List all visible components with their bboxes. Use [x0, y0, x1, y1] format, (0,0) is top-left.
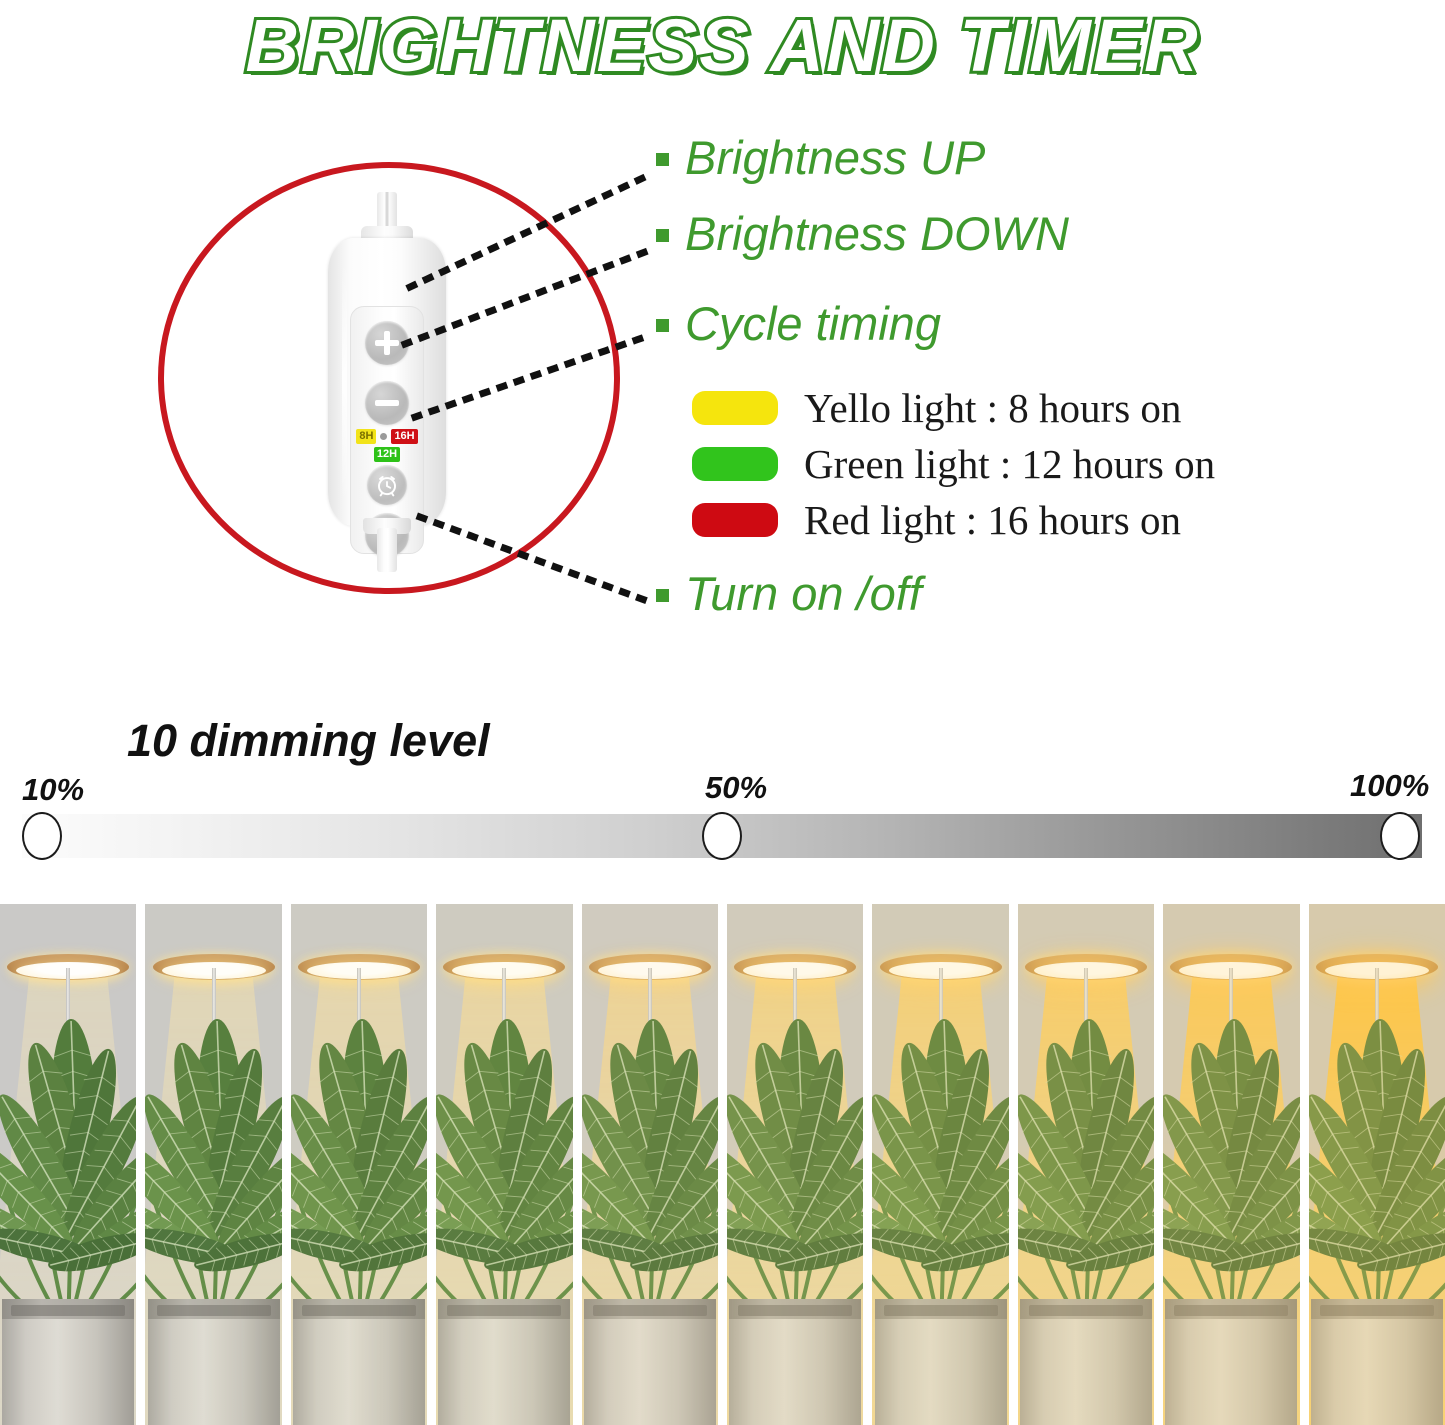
cycle-timing-button[interactable] — [367, 465, 407, 505]
callout-label: Brightness DOWN — [685, 210, 1069, 257]
bullet-square-icon — [656, 153, 669, 166]
dimming-slider[interactable] — [22, 814, 1422, 858]
plant-pot — [584, 1299, 716, 1425]
plant — [872, 999, 1008, 1329]
plant-pot — [438, 1299, 570, 1425]
brightness-sample-panel — [727, 904, 863, 1425]
plant-foliage — [145, 999, 281, 1329]
callout-cycle-timing: Cycle timing — [656, 300, 941, 347]
slider-handle-50[interactable] — [702, 812, 742, 860]
brightness-sample-panel — [291, 904, 427, 1425]
plant-foliage — [872, 999, 1008, 1329]
callout-label: Brightness UP — [685, 134, 985, 181]
grow-light-scene — [436, 904, 572, 1425]
brightness-sample-panel — [872, 904, 1008, 1425]
brightness-down-button[interactable] — [365, 381, 409, 425]
plant-foliage — [436, 999, 572, 1329]
plant — [1163, 999, 1299, 1329]
page-title: BRIGHTNESS AND TIMER — [245, 9, 1199, 83]
brightness-sample-panel — [1163, 904, 1299, 1425]
callout-turn-on-off: Turn on /off — [656, 570, 922, 617]
grow-light-scene — [0, 904, 136, 1425]
dimming-mid-label: 50% — [705, 772, 767, 803]
dimming-title: 10 dimming level — [127, 718, 490, 763]
button-panel: 8H 16H 12H — [350, 306, 424, 554]
brightness-sample-panel — [1018, 904, 1154, 1425]
callout-brightness-up: Brightness UP — [656, 134, 985, 181]
timer-indicator-group: 8H 16H 12H — [350, 429, 424, 462]
plant-foliage — [0, 999, 136, 1329]
plant-pot — [1311, 1299, 1443, 1425]
dimming-section: 10 dimming level 10% 50% 100% — [0, 700, 1445, 890]
plant-foliage — [1163, 999, 1299, 1329]
plant — [436, 999, 572, 1329]
page-header: BRIGHTNESS AND TIMER — [0, 0, 1445, 92]
plant-foliage — [291, 999, 427, 1329]
dimming-max-label: 100% — [1350, 770, 1429, 801]
plant — [145, 999, 281, 1329]
brightness-sample-panel — [1309, 904, 1445, 1425]
plant-foliage — [1309, 999, 1445, 1329]
brightness-up-button[interactable] — [365, 321, 409, 365]
plant-pot — [1020, 1299, 1152, 1425]
led-8h-label: 8H — [356, 429, 376, 444]
callout-brightness-down: Brightness DOWN — [656, 210, 1069, 257]
legend-label: Yello light : 8 hours on — [804, 388, 1181, 429]
callout-list: Brightness UP Brightness DOWN Cycle timi… — [652, 92, 1442, 672]
legend-row-green: Green light : 12 hours on — [692, 436, 1215, 492]
timer-indicator-row-top: 8H 16H — [356, 429, 417, 444]
inline-controller: 8H 16H 12H — [328, 192, 446, 570]
plant-pot — [875, 1299, 1007, 1425]
brightness-sample-strip — [0, 904, 1445, 1425]
legend-swatch-green — [692, 447, 778, 481]
slider-handle-10[interactable] — [22, 812, 62, 860]
plant — [1018, 999, 1154, 1329]
plant — [727, 999, 863, 1329]
plant — [1309, 999, 1445, 1329]
brightness-sample-panel — [436, 904, 572, 1425]
plant — [0, 999, 136, 1329]
plant — [291, 999, 427, 1329]
grow-light-scene — [1163, 904, 1299, 1425]
brightness-sample-panel — [145, 904, 281, 1425]
grow-light-scene — [727, 904, 863, 1425]
plant-pot — [2, 1299, 134, 1425]
controller-body: 8H 16H 12H — [328, 238, 446, 526]
indicator-dot-icon — [380, 433, 387, 440]
legend-label: Red light : 16 hours on — [804, 500, 1181, 541]
plant-foliage — [582, 999, 718, 1329]
brightness-sample-panel — [582, 904, 718, 1425]
plant-pot — [148, 1299, 280, 1425]
cable-lower — [377, 528, 397, 572]
led-16h-label: 16H — [391, 429, 417, 444]
bullet-square-icon — [656, 319, 669, 332]
plant-pot — [293, 1299, 425, 1425]
legend-row-yellow: Yello light : 8 hours on — [692, 380, 1215, 436]
alarm-clock-icon — [374, 472, 400, 498]
led-12h-label: 12H — [374, 447, 400, 462]
callout-label: Turn on /off — [685, 570, 922, 617]
dimming-min-label: 10% — [22, 774, 84, 805]
grow-light-scene — [582, 904, 718, 1425]
legend-label: Green light : 12 hours on — [804, 444, 1215, 485]
timer-indicator-row-bottom: 12H — [374, 447, 400, 462]
plant-foliage — [1018, 999, 1154, 1329]
timer-legend: Yello light : 8 hours on Green light : 1… — [692, 380, 1215, 548]
grow-light-scene — [1309, 904, 1445, 1425]
legend-row-red: Red light : 16 hours on — [692, 492, 1215, 548]
grow-light-scene — [291, 904, 427, 1425]
callout-label: Cycle timing — [685, 300, 941, 347]
grow-light-scene — [872, 904, 1008, 1425]
slider-handle-100[interactable] — [1380, 812, 1420, 860]
plant-pot — [1165, 1299, 1297, 1425]
plant-foliage — [727, 999, 863, 1329]
plant-pot — [729, 1299, 861, 1425]
bullet-square-icon — [656, 229, 669, 242]
plant — [582, 999, 718, 1329]
brightness-sample-panel — [0, 904, 136, 1425]
grow-light-scene — [145, 904, 281, 1425]
legend-swatch-red — [692, 503, 778, 537]
bullet-square-icon — [656, 589, 669, 602]
legend-swatch-yellow — [692, 391, 778, 425]
grow-light-scene — [1018, 904, 1154, 1425]
